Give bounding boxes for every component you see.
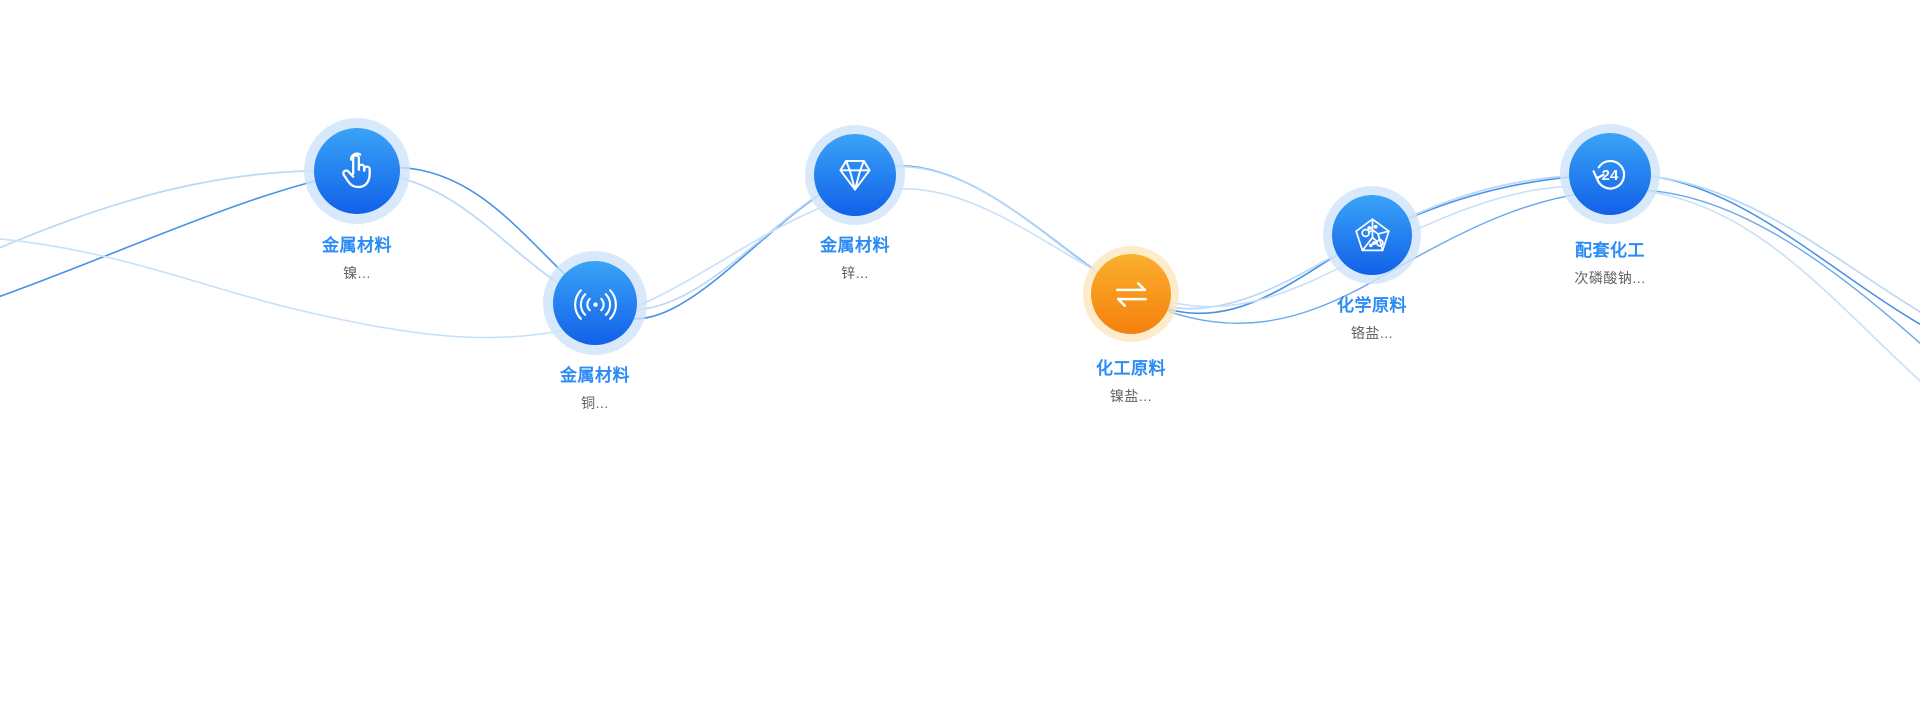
- node-subtitle[interactable]: 镍...: [322, 262, 392, 284]
- clock-24h-icon: [1585, 149, 1635, 199]
- node-subtitle[interactable]: 锌...: [820, 262, 890, 284]
- node-title[interactable]: 金属材料: [820, 235, 890, 257]
- node-title[interactable]: 金属材料: [560, 365, 630, 387]
- node-subtitle[interactable]: 次磷酸钠...: [1574, 267, 1645, 289]
- supply-chain-canvas: 金属材料镍...金属材料铜...金属材料锌...化工原料镍盐...化学原料铬盐.…: [0, 0, 1920, 718]
- node-subtitle[interactable]: 铬盐...: [1337, 322, 1407, 344]
- node-disc[interactable]: [1332, 195, 1412, 275]
- node-title[interactable]: 金属材料: [322, 235, 392, 257]
- node-title[interactable]: 配套化工: [1574, 240, 1645, 262]
- node-label-group: 金属材料锌...: [820, 235, 890, 284]
- molecule-pentagon-icon: [1348, 211, 1397, 260]
- node-label-group: 配套化工次磷酸钠...: [1574, 240, 1645, 289]
- signal-radar-icon: [570, 278, 621, 329]
- node-title[interactable]: 化工原料: [1096, 358, 1166, 380]
- node-disc[interactable]: [1569, 133, 1651, 215]
- node-label-group: 化工原料镍盐...: [1096, 358, 1166, 407]
- node-disc[interactable]: [553, 261, 637, 345]
- node-disc[interactable]: [814, 134, 896, 216]
- node-subtitle[interactable]: 镍盐...: [1096, 385, 1166, 407]
- diamond-icon: [830, 150, 880, 200]
- connector-curves: [0, 0, 1920, 718]
- node-disc[interactable]: [1091, 254, 1171, 334]
- curve-dark-lower-right: [1140, 189, 1920, 352]
- node-label-group: 金属材料铜...: [560, 365, 630, 414]
- node-subtitle[interactable]: 铜...: [560, 392, 630, 414]
- exchange-arrows-icon: [1107, 270, 1156, 319]
- click-hand-icon: [331, 145, 383, 197]
- node-disc[interactable]: [314, 128, 400, 214]
- node-label-group: 化学原料铬盐...: [1337, 295, 1407, 344]
- node-title[interactable]: 化学原料: [1337, 295, 1407, 317]
- node-label-group: 金属材料镍...: [322, 235, 392, 284]
